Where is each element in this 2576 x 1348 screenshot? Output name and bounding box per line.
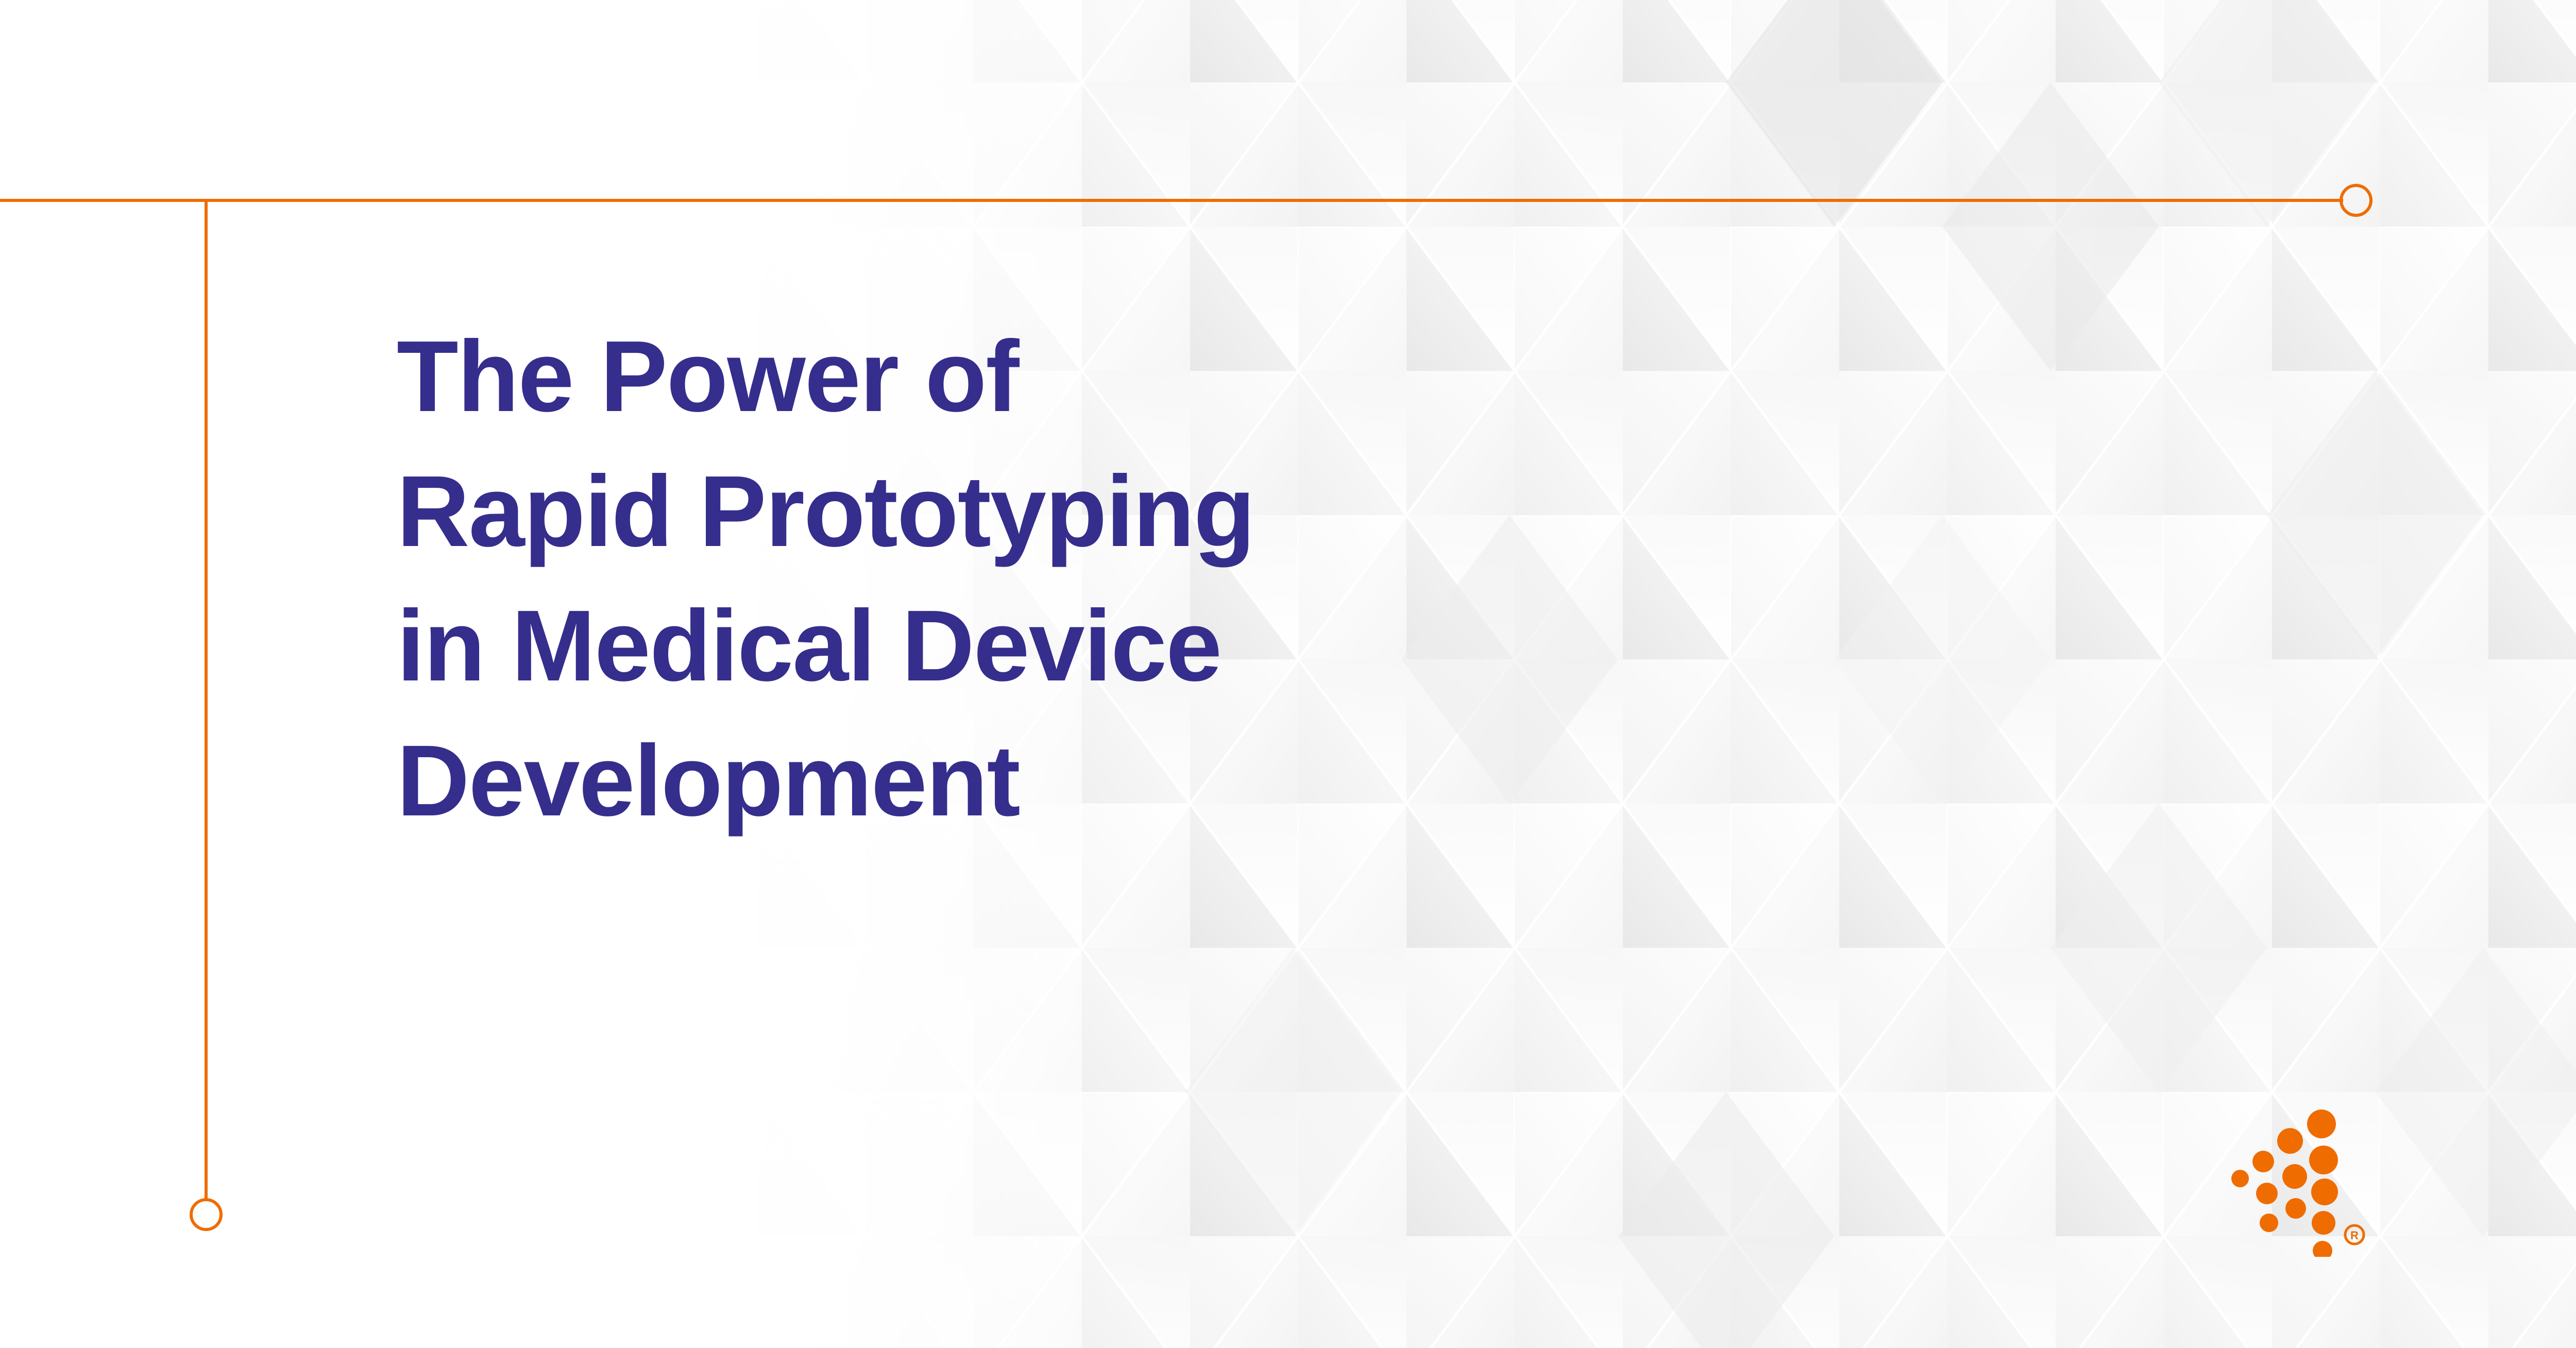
title-line-1: The Power of	[397, 309, 1255, 444]
accent-node-bottom-icon	[190, 1198, 223, 1231]
title-line-2: Rapid Prototyping	[397, 444, 1255, 579]
svg-text:R: R	[2350, 1229, 2359, 1242]
accent-node-right-icon	[2340, 184, 2372, 217]
dot-matrix-arrow-icon	[2231, 1110, 2338, 1257]
vertical-accent-rule	[205, 200, 208, 1199]
background-diamond-pattern	[0, 0, 2576, 1348]
brand-logo: R	[2231, 1107, 2385, 1257]
banner-canvas: The Power of Rapid Prototyping in Medica…	[0, 0, 2576, 1348]
title-line-3: in Medical Device	[397, 578, 1255, 713]
registered-trademark-icon: R	[2345, 1225, 2364, 1244]
title-line-4: Development	[397, 713, 1255, 848]
horizontal-accent-rule	[0, 199, 2343, 202]
page-title: The Power of Rapid Prototyping in Medica…	[397, 309, 1255, 848]
